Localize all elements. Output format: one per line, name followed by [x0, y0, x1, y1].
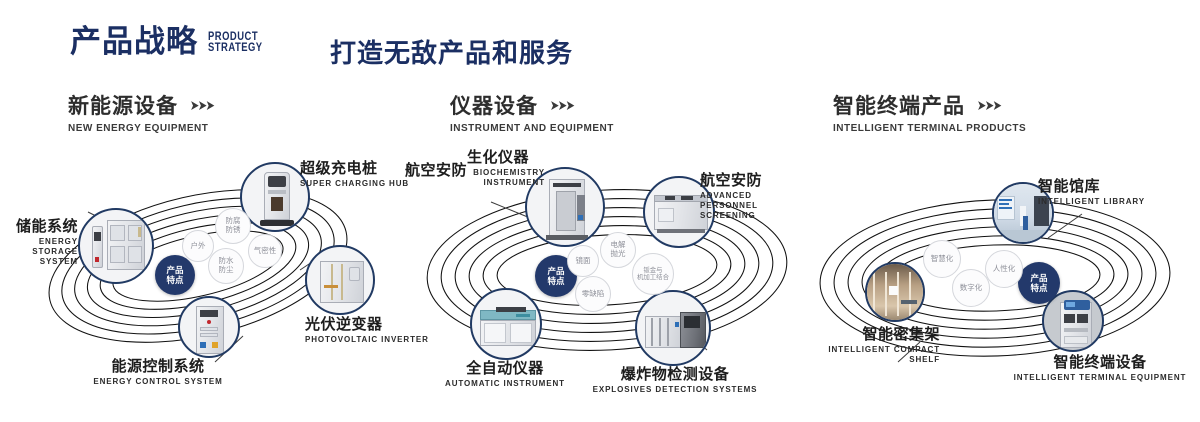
energy-storage-illustration	[80, 210, 152, 282]
node-label-intelligent-library: 智能馆库 INTELLIGENT LIBRARY	[1038, 178, 1145, 207]
node-label-biochemistry-instrument: 生化仪器 BIOCHEMISTRY INSTRUMENT	[467, 149, 545, 188]
section-title-cn: 新能源设备➤➤➤	[68, 95, 216, 118]
feature-bubble-humanized: 人性化	[985, 250, 1023, 288]
node-bubble-explosives-detection[interactable]	[635, 290, 711, 366]
product-strategy-infographic: 产品战略 PRODUCT STRATEGY 打造无敌产品和服务 新能源设备➤➤➤…	[0, 0, 1200, 422]
node-label-cn: 航空安防	[405, 162, 467, 179]
control-cabinet-illustration	[180, 298, 238, 356]
node-label-en: SUPER CHARGING HUB	[300, 179, 409, 189]
cluster-instrument: 航空安防 生化仪器 BIOCHEMISTRY INSTRUMENT 航空安防 A…	[395, 150, 815, 400]
feature-bubble-sheetmetal-machining: 钣金与机加工结合	[632, 253, 674, 295]
node-label-en: EXPLOSIVES DETECTION SYSTEMS	[590, 385, 760, 395]
page-title-en-line1: PRODUCT	[208, 32, 263, 44]
node-label-cn: 爆炸物检测设备	[590, 366, 760, 383]
explosives-detection-illustration	[637, 292, 709, 364]
core-bubble-text: 产品 特点	[166, 265, 183, 285]
node-label-cn: 超级充电桩	[300, 160, 409, 177]
page-title-cn: 产品战略	[70, 26, 198, 57]
chevron-right-triple-icon: ➤➤➤	[190, 98, 213, 113]
node-bubble-compact-shelf[interactable]	[865, 262, 925, 322]
node-label-en: ENERGY STORAGE SYSTEM	[0, 237, 78, 267]
core-bubble-text: 产品 特点	[1030, 273, 1047, 293]
node-label-compact-shelf: 智能密集架 INTELLIGENT COMPACT SHELF	[800, 326, 940, 365]
automatic-instrument-illustration	[472, 290, 540, 358]
node-bubble-photovoltaic-inverter[interactable]	[305, 245, 375, 315]
node-label-en: INTELLIGENT LIBRARY	[1038, 197, 1145, 207]
node-label-super-charging-hub: 超级充电桩 SUPER CHARGING HUB	[300, 160, 409, 189]
node-label-en: ENERGY CONTROL SYSTEM	[78, 377, 238, 387]
cluster-new-energy: 储能系统 ENERGY STORAGE SYSTEM 超级充电桩 SUPER C…	[0, 150, 420, 400]
page-subtitle: 打造无敌产品和服务	[330, 33, 573, 70]
section-head-instrument: 仪器设备➤➤➤ INSTRUMENT AND EQUIPMENT	[450, 95, 614, 134]
feature-bubble-electropolishing: 电解抛光	[600, 232, 636, 268]
section-title-en: NEW ENERGY EQUIPMENT	[68, 123, 216, 134]
chevron-right-triple-icon: ➤➤➤	[550, 98, 573, 113]
core-bubble-product-features[interactable]: 产品 特点	[1018, 262, 1060, 304]
feature-bubble-zero-defect: 零缺陷	[575, 276, 611, 312]
feature-bubble-digital: 数字化	[952, 269, 990, 307]
feature-bubble-anti-corrosion: 防腐防锈	[215, 208, 251, 244]
feature-bubble-airtightness: 气密性	[248, 234, 282, 268]
node-label-automatic-instrument: 全自动仪器 AUTOMATIC INSTRUMENT	[425, 360, 585, 389]
terminal-kiosk-illustration	[1044, 292, 1102, 350]
feature-bubble-mirror-finish: 镜面	[567, 245, 599, 277]
page-header: 产品战略 PRODUCT STRATEGY	[70, 26, 275, 57]
node-label-cn: 智能馆库	[1038, 178, 1145, 195]
node-label-en: INTELLIGENT COMPACT SHELF	[800, 345, 940, 365]
node-label-en: AUTOMATIC INSTRUMENT	[425, 379, 585, 389]
node-label-cn: 能源控制系统	[78, 358, 238, 375]
node-label-explosives-detection: 爆炸物检测设备 EXPLOSIVES DETECTION SYSTEMS	[590, 366, 760, 395]
node-label-aviation-security-left: 航空安防	[405, 162, 467, 179]
core-bubble-text: 产品 特点	[547, 266, 564, 286]
core-bubble-product-features[interactable]: 产品 特点	[155, 255, 195, 295]
compact-shelf-illustration	[867, 264, 923, 320]
page-title-en: PRODUCT STRATEGY	[208, 32, 263, 55]
node-label-en: INTELLIGENT TERMINAL EQUIPMENT	[1000, 373, 1200, 383]
inverter-illustration	[307, 247, 373, 313]
section-title-cn: 智能终端产品➤➤➤	[833, 95, 1026, 118]
feature-bubble-smart: 智慧化	[923, 240, 961, 278]
cluster-intelligent-terminal: 智能馆库 INTELLIGENT LIBRARY 智能密集架 INTELLIGE…	[790, 150, 1200, 400]
section-title-en: INSTRUMENT AND EQUIPMENT	[450, 123, 614, 134]
node-label-en: BIOCHEMISTRY INSTRUMENT	[467, 168, 545, 188]
section-head-intelligent-terminal: 智能终端产品➤➤➤ INTELLIGENT TERMINAL PRODUCTS	[833, 95, 1026, 134]
node-bubble-automatic-instrument[interactable]	[470, 288, 542, 360]
node-label-cn: 智能终端设备	[1000, 354, 1200, 371]
section-title-cn: 仪器设备➤➤➤	[450, 95, 614, 118]
node-label-energy-control-system: 能源控制系统 ENERGY CONTROL SYSTEM	[78, 358, 238, 387]
charging-hub-illustration	[242, 164, 308, 230]
section-title-en: INTELLIGENT TERMINAL PRODUCTS	[833, 123, 1026, 134]
node-bubble-energy-control-system[interactable]	[178, 296, 240, 358]
feature-bubble-waterproof-dustproof: 防水防尘	[208, 248, 244, 284]
node-label-cn: 智能密集架	[800, 326, 940, 343]
node-label-cn: 储能系统	[0, 218, 78, 235]
section-head-new-energy: 新能源设备➤➤➤ NEW ENERGY EQUIPMENT	[68, 95, 216, 134]
chevron-right-triple-icon: ➤➤➤	[977, 98, 1000, 113]
node-label-energy-storage: 储能系统 ENERGY STORAGE SYSTEM	[0, 218, 78, 267]
node-label-terminal-equipment: 智能终端设备 INTELLIGENT TERMINAL EQUIPMENT	[1000, 354, 1200, 383]
node-label-cn: 全自动仪器	[425, 360, 585, 377]
node-label-cn: 生化仪器	[467, 149, 545, 166]
page-title-en-line2: STRATEGY	[208, 43, 263, 55]
node-bubble-energy-storage[interactable]	[78, 208, 154, 284]
